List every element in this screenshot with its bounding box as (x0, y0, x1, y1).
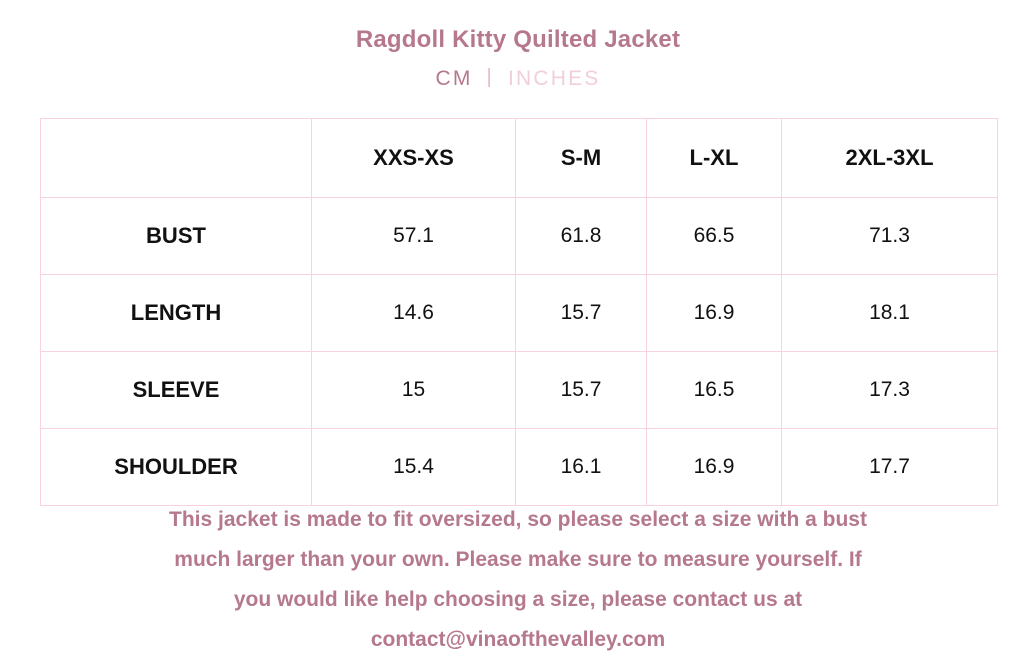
fit-note-line-2: much larger than your own. Please make s… (26, 540, 1010, 580)
cell-shoulder-2xl-3xl: 17.7 (782, 429, 998, 506)
table-row: LENGTH 14.6 15.7 16.9 18.1 (41, 275, 998, 352)
unit-option-cm[interactable]: CM (435, 67, 472, 91)
cell-sleeve-s-m: 15.7 (516, 352, 647, 429)
unit-toggle[interactable]: CM | INCHES (0, 67, 1036, 91)
fit-note-line-3: you would like help choosing a size, ple… (26, 580, 1010, 620)
column-header-l-xl: L-XL (647, 119, 782, 198)
row-label-sleeve: SLEEVE (41, 352, 312, 429)
cell-shoulder-s-m: 16.1 (516, 429, 647, 506)
row-label-length: LENGTH (41, 275, 312, 352)
column-header-xxs-xs: XXS-XS (312, 119, 516, 198)
table-corner-cell (41, 119, 312, 198)
size-chart-page: Ragdoll Kitty Quilted Jacket CM | INCHES… (0, 0, 1036, 668)
row-label-shoulder: SHOULDER (41, 429, 312, 506)
cell-bust-l-xl: 66.5 (647, 198, 782, 275)
cell-length-l-xl: 16.9 (647, 275, 782, 352)
column-header-2xl-3xl: 2XL-3XL (782, 119, 998, 198)
size-table: XXS-XS S-M L-XL 2XL-3XL BUST 57.1 61.8 6… (40, 118, 998, 506)
column-header-s-m: S-M (516, 119, 647, 198)
table-row: SHOULDER 15.4 16.1 16.9 17.7 (41, 429, 998, 506)
table-header-row: XXS-XS S-M L-XL 2XL-3XL (41, 119, 998, 198)
row-label-bust: BUST (41, 198, 312, 275)
page-title: Ragdoll Kitty Quilted Jacket (0, 0, 1036, 55)
cell-length-xxs-xs: 14.6 (312, 275, 516, 352)
table-row: SLEEVE 15 15.7 16.5 17.3 (41, 352, 998, 429)
cell-bust-s-m: 61.8 (516, 198, 647, 275)
cell-shoulder-xxs-xs: 15.4 (312, 429, 516, 506)
unit-option-inches[interactable]: INCHES (508, 67, 601, 91)
unit-separator: | (487, 66, 494, 89)
contact-email[interactable]: contact@vinaofthevalley.com (26, 620, 1010, 660)
cell-length-2xl-3xl: 18.1 (782, 275, 998, 352)
cell-length-s-m: 15.7 (516, 275, 647, 352)
fit-note-line-1: This jacket is made to fit oversized, so… (26, 500, 1010, 540)
cell-bust-2xl-3xl: 71.3 (782, 198, 998, 275)
cell-sleeve-2xl-3xl: 17.3 (782, 352, 998, 429)
table-row: BUST 57.1 61.8 66.5 71.3 (41, 198, 998, 275)
cell-sleeve-l-xl: 16.5 (647, 352, 782, 429)
cell-shoulder-l-xl: 16.9 (647, 429, 782, 506)
cell-sleeve-xxs-xs: 15 (312, 352, 516, 429)
cell-bust-xxs-xs: 57.1 (312, 198, 516, 275)
size-table-container: XXS-XS S-M L-XL 2XL-3XL BUST 57.1 61.8 6… (40, 118, 997, 506)
fit-note: This jacket is made to fit oversized, so… (26, 500, 1010, 660)
